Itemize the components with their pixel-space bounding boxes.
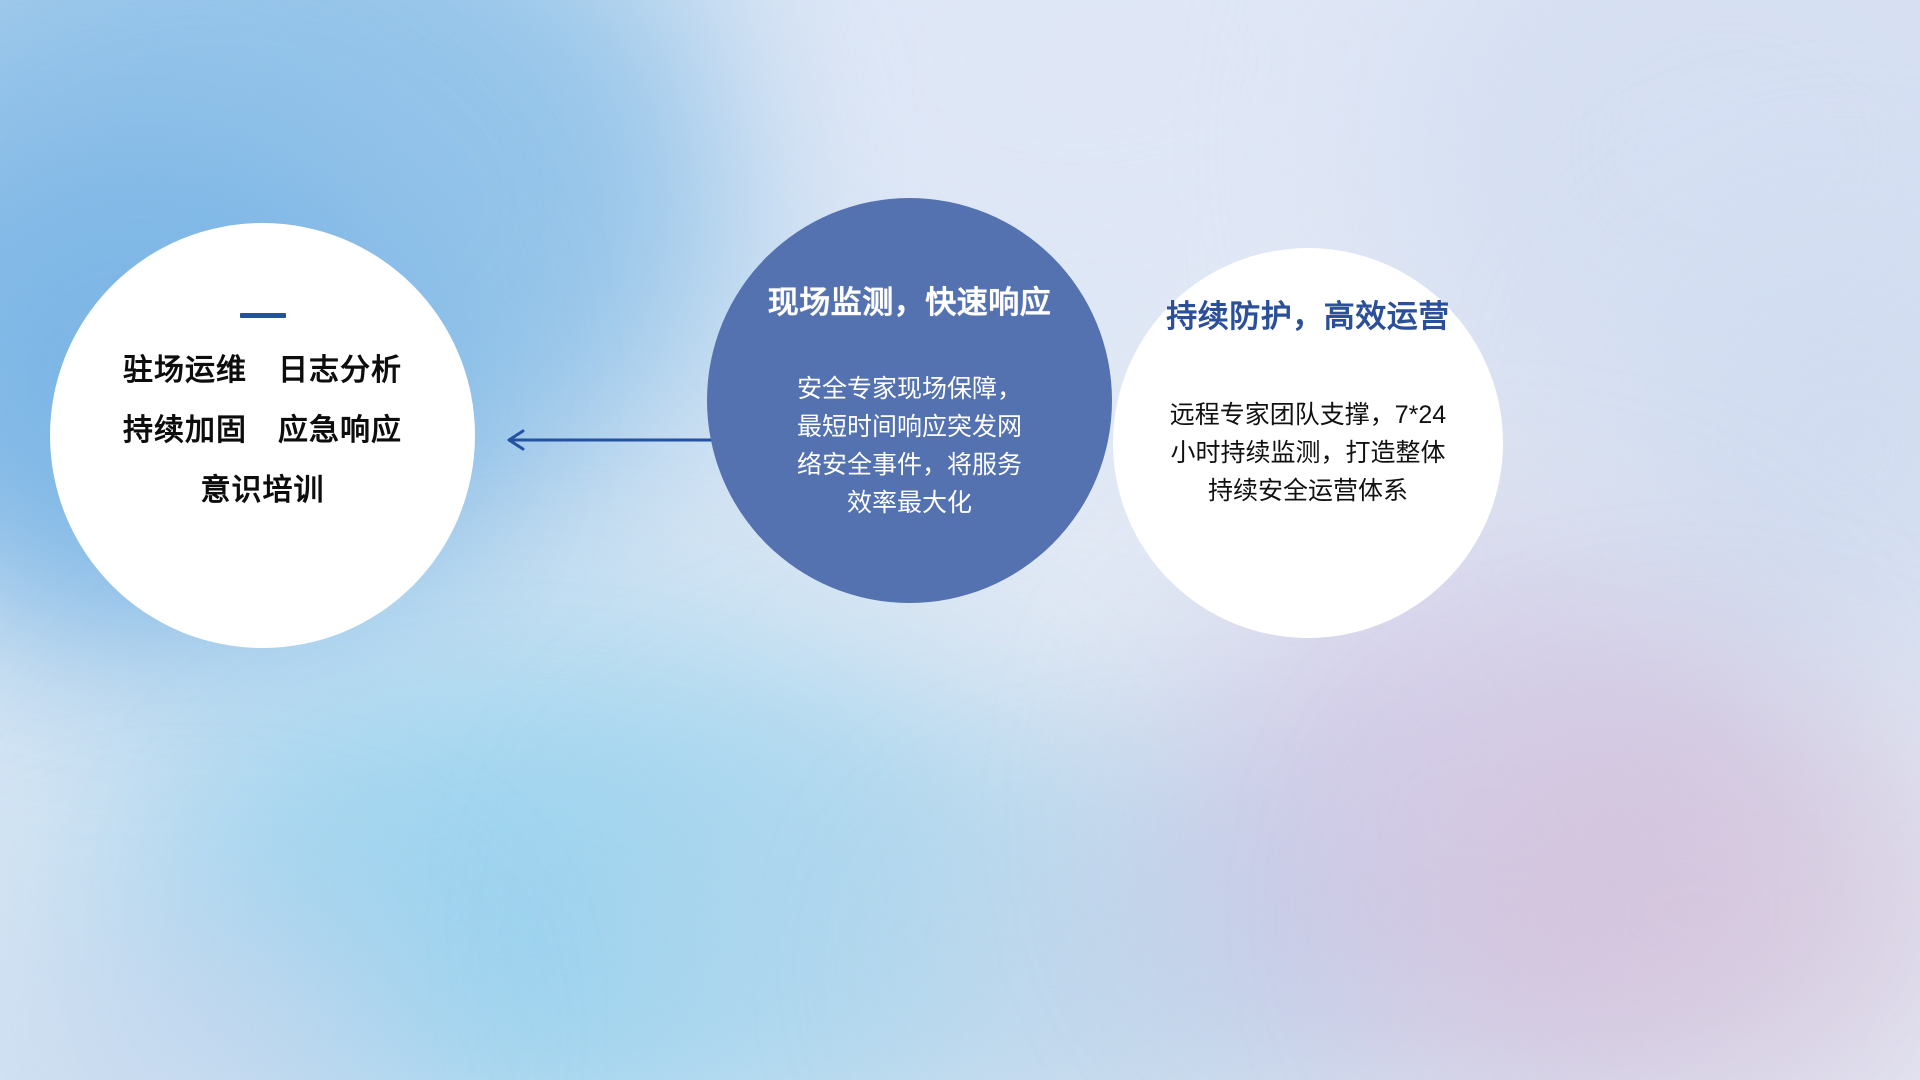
right-service-body: 远程专家团队支撑，7*24 小时持续监测，打造整体 持续安全运营体系 [1138,396,1478,510]
right-service-circle[interactable]: 持续防护，高效运营 远程专家团队支撑，7*24 小时持续监测，打造整体 持续安全… [1113,248,1503,638]
slide-canvas: 驻场运维 日志分析 持续加固 应急响应 意识培训 持续防护，高效运营 远程专家团… [0,0,1920,1080]
connector-arrow-icon [497,420,717,460]
left-capability-line-1: 驻场运维 日志分析 [123,356,402,386]
middle-service-circle[interactable]: 现场监测，快速响应 安全专家现场保障， 最短时间响应突发网 络安全事件，将服务 … [707,198,1112,603]
middle-service-body-line-4: 效率最大化 [760,484,1060,522]
left-capability-line-3: 意识培训 [201,476,325,506]
divider-dash-icon [240,313,286,318]
left-capability-circle[interactable]: 驻场运维 日志分析 持续加固 应急响应 意识培训 [50,223,475,648]
right-service-title: 持续防护，高效运营 [1166,300,1450,334]
right-service-body-line-1: 远程专家团队支撑，7*24 [1138,396,1478,434]
middle-service-title: 现场监测，快速响应 [768,286,1052,320]
left-capability-line-2: 持续加固 应急响应 [123,416,402,446]
middle-service-body: 安全专家现场保障， 最短时间响应突发网 络安全事件，将服务 效率最大化 [760,370,1060,522]
right-service-body-line-3: 持续安全运营体系 [1138,472,1478,510]
middle-service-body-line-2: 最短时间响应突发网 [760,408,1060,446]
right-service-body-line-2: 小时持续监测，打造整体 [1138,434,1478,472]
middle-service-body-line-1: 安全专家现场保障， [760,370,1060,408]
middle-service-body-line-3: 络安全事件，将服务 [760,446,1060,484]
